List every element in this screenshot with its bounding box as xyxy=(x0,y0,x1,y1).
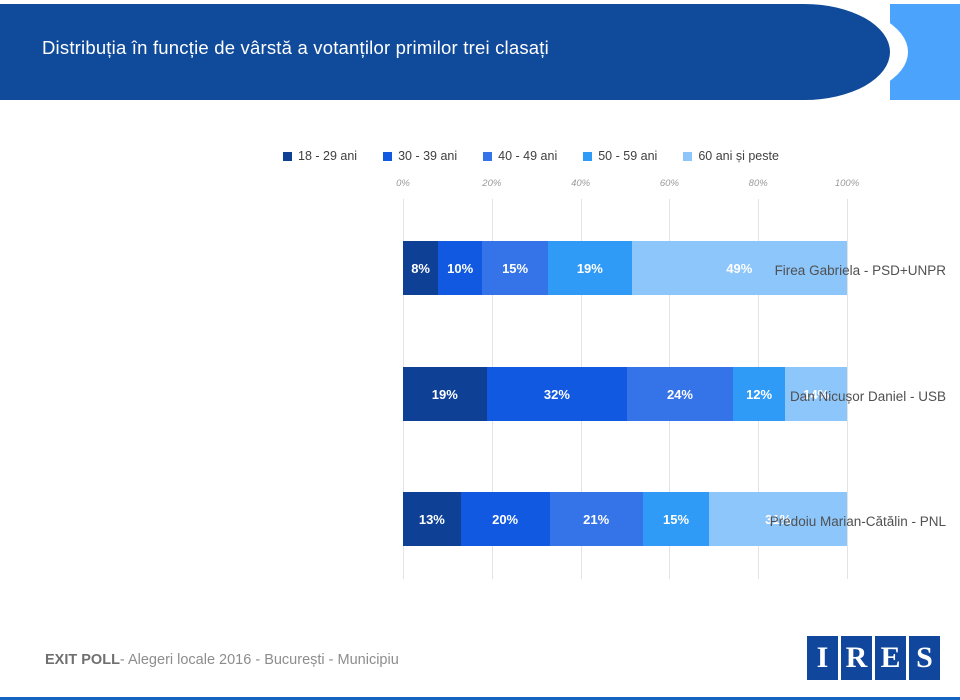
footer-caption-bold: EXIT POLL xyxy=(45,652,120,668)
chart-legend: 18 - 29 ani30 - 39 ani40 - 49 ani50 - 59… xyxy=(283,149,779,163)
legend-item-4[interactable]: 60 ani și peste xyxy=(683,149,779,163)
legend-swatch-icon xyxy=(683,152,692,161)
category-label-1: Dan Nicușor Daniel - USB xyxy=(646,389,946,404)
footer: EXIT POLL- Alegeri locale 2016 - Bucureș… xyxy=(0,616,960,700)
bar-segment[interactable]: 15% xyxy=(482,241,548,295)
ires-logo-letter: I xyxy=(807,636,838,680)
bar-segment[interactable]: 20% xyxy=(461,492,550,546)
legend-swatch-icon xyxy=(583,152,592,161)
legend-item-1[interactable]: 30 - 39 ani xyxy=(383,149,457,163)
category-label-0: Firea Gabriela - PSD+UNPR xyxy=(646,263,946,278)
legend-label: 18 - 29 ani xyxy=(298,149,357,163)
x-axis-tick-1: 20% xyxy=(482,178,501,189)
x-axis-tick-5: 100% xyxy=(835,178,859,189)
x-axis-tick-0: 0% xyxy=(396,178,410,189)
x-axis-tick-2: 40% xyxy=(571,178,590,189)
page-title: Distribuția în funcție de vârstă a votan… xyxy=(42,37,549,59)
legend-label: 40 - 49 ani xyxy=(498,149,557,163)
legend-swatch-icon xyxy=(283,152,292,161)
bar-segment[interactable]: 19% xyxy=(548,241,632,295)
x-axis-tick-4: 80% xyxy=(749,178,768,189)
ires-logo: IRES xyxy=(807,636,940,680)
legend-label: 60 ani și peste xyxy=(698,149,779,163)
bar-segment[interactable]: 13% xyxy=(403,492,461,546)
x-axis-ticks: 0%20%40%60%80%100% xyxy=(403,178,847,192)
stacked-bar-chart: 18 - 29 ani30 - 39 ani40 - 49 ani50 - 59… xyxy=(0,104,960,616)
x-axis-tick-3: 60% xyxy=(660,178,679,189)
ires-logo-letter: E xyxy=(875,636,906,680)
legend-label: 30 - 39 ani xyxy=(398,149,457,163)
bar-segment[interactable]: 32% xyxy=(487,367,628,421)
header-banner: Distribuția în funcție de vârstă a votan… xyxy=(0,0,960,104)
footer-caption: EXIT POLL- Alegeri locale 2016 - Bucureș… xyxy=(45,652,399,668)
legend-item-3[interactable]: 50 - 59 ani xyxy=(583,149,657,163)
bar-segment[interactable]: 10% xyxy=(438,241,482,295)
legend-label: 50 - 59 ani xyxy=(598,149,657,163)
legend-swatch-icon xyxy=(483,152,492,161)
ires-logo-letter: S xyxy=(909,636,940,680)
bar-segment[interactable]: 8% xyxy=(403,241,438,295)
legend-swatch-icon xyxy=(383,152,392,161)
ires-logo-letter: R xyxy=(841,636,872,680)
legend-item-2[interactable]: 40 - 49 ani xyxy=(483,149,557,163)
bar-segment[interactable]: 19% xyxy=(403,367,487,421)
bar-segment[interactable]: 21% xyxy=(550,492,643,546)
category-label-2: Predoiu Marian-Cătălin - PNL xyxy=(646,514,946,529)
legend-item-0[interactable]: 18 - 29 ani xyxy=(283,149,357,163)
footer-caption-rest: - Alegeri locale 2016 - București - Muni… xyxy=(120,652,399,668)
